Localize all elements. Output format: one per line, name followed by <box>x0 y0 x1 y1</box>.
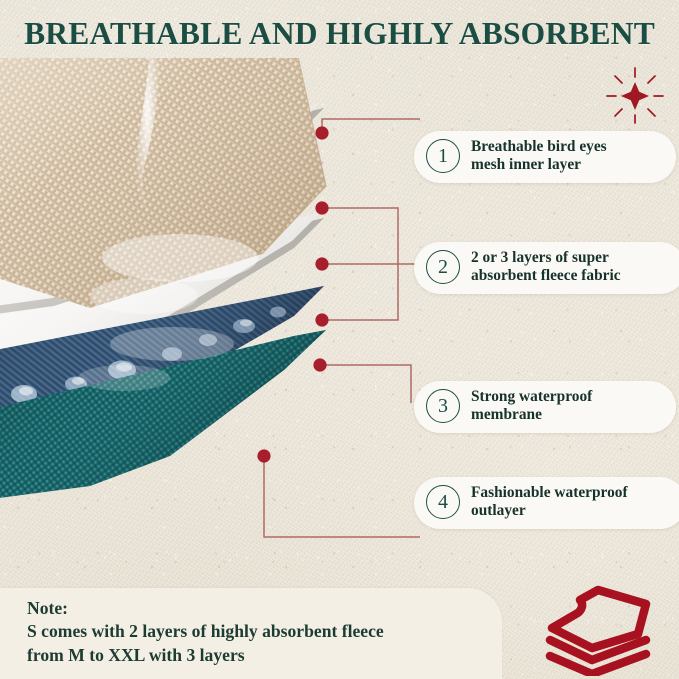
callout-4-number: 4 <box>426 485 460 519</box>
callout-4[interactable]: 4 Fashionable waterproof outlayer <box>414 477 679 529</box>
sparkle-star-icon <box>606 66 664 124</box>
callout-2-label: 2 or 3 layers of super absorbent fleece … <box>471 249 621 286</box>
page-title: BREATHABLE AND HIGHLY ABSORBENT <box>0 16 679 52</box>
callout-3-label: Strong waterproof membrane <box>471 388 592 425</box>
callout-3-number: 3 <box>426 389 460 423</box>
note-text: Note: S comes with 2 layers of highly ab… <box>27 597 497 667</box>
callout-3[interactable]: 3 Strong waterproof membrane <box>414 381 676 433</box>
callout-1[interactable]: 1 Breathable bird eyes mesh inner layer <box>414 131 676 183</box>
stacked-layers-icon <box>542 584 660 676</box>
callout-1-label: Breathable bird eyes mesh inner layer <box>471 138 607 175</box>
infographic-canvas: BREATHABLE AND HIGHLY ABSORBENT <box>0 0 679 679</box>
callout-4-label: Fashionable waterproof outlayer <box>471 484 628 521</box>
fabric-layers-cutaway <box>0 58 386 504</box>
callout-2-number: 2 <box>426 250 460 284</box>
callout-2[interactable]: 2 2 or 3 layers of super absorbent fleec… <box>414 242 679 294</box>
callout-1-number: 1 <box>426 139 460 173</box>
